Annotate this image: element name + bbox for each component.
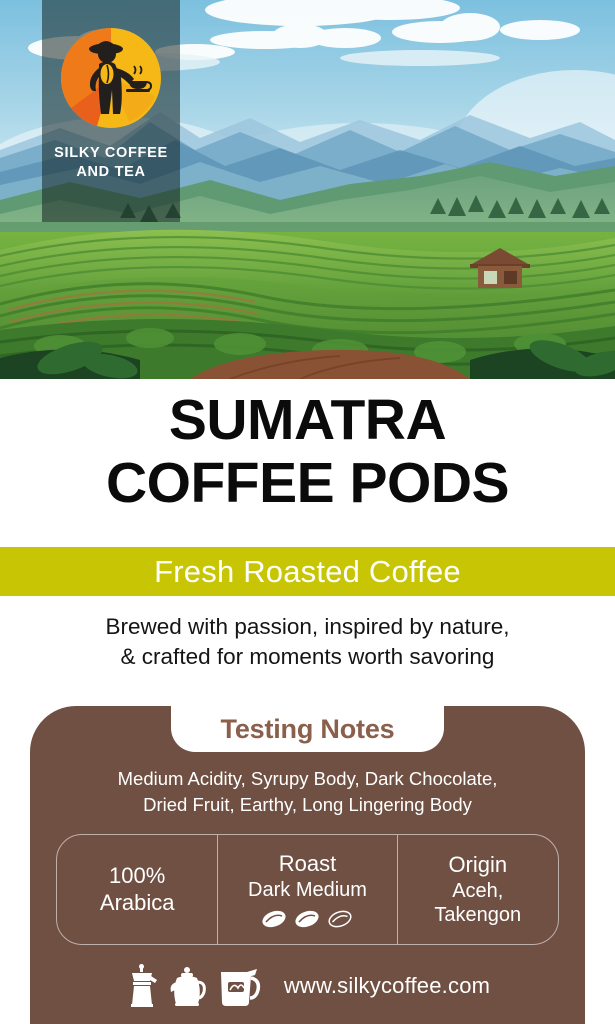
attribute-arabica: 100% Arabica (57, 835, 217, 944)
origin-line-1: Aceh, (452, 879, 503, 903)
brand-name-line1: SILKY COFFEE (54, 144, 168, 163)
title-line-1: SUMATRA (0, 392, 615, 448)
tagline-line-2: & crafted for moments worth savoring (0, 642, 615, 672)
coffee-bean-filled-icon (294, 910, 320, 928)
arabica-percent: 100% (109, 863, 165, 890)
brand-name: SILKY COFFEE AND TEA (54, 144, 168, 182)
fresh-roasted-band: Fresh Roasted Coffee (0, 547, 615, 596)
attribute-roast: Roast Dark Medium (217, 835, 397, 944)
tagline-line-1: Brewed with passion, inspired by nature, (0, 612, 615, 642)
coffee-bean-outline-icon (327, 910, 353, 928)
panel-footer: www.silkycoffee.com (30, 958, 585, 1014)
roast-label: Roast (279, 851, 336, 878)
attribute-origin: Origin Aceh, Takengon (398, 835, 558, 944)
tagline: Brewed with passion, inspired by nature,… (0, 612, 615, 671)
testing-notes-panel: Testing Notes Medium Acidity, Syrupy Bod… (30, 706, 585, 1024)
moka-pot-icon (125, 964, 159, 1008)
tasting-notes-line-2: Dried Fruit, Earthy, Long Lingering Body (52, 792, 563, 818)
band-label: Fresh Roasted Coffee (154, 554, 461, 590)
brand-name-line2: AND TEA (54, 163, 168, 182)
barista-silhouette-with-coffee-cup-icon (59, 26, 163, 130)
tasting-notes-line-1: Medium Acidity, Syrupy Body, Dark Chocol… (52, 766, 563, 792)
origin-line-2: Takengon (434, 903, 521, 927)
coffee-bean-filled-icon (261, 910, 287, 928)
roast-level-beans (261, 910, 353, 928)
brand-logo-panel: SILKY COFFEE AND TEA (42, 0, 180, 222)
origin-label: Origin (448, 852, 507, 879)
arabica-label: Arabica (100, 890, 175, 917)
roast-value: Dark Medium (248, 878, 367, 902)
title-line-2: COFFEE PODS (0, 455, 615, 511)
tasting-notes-text: Medium Acidity, Syrupy Body, Dark Chocol… (30, 766, 585, 819)
brewing-vessel-icons (125, 964, 261, 1008)
product-label: SILKY COFFEE AND TEA SUMATRA COFFEE PODS… (0, 0, 615, 1024)
milk-pitcher-icon (217, 966, 261, 1008)
testing-notes-heading: Testing Notes (171, 706, 444, 752)
product-attributes-box: 100% Arabica Roast Dark Medium (56, 834, 559, 945)
page-title: SUMATRA COFFEE PODS (0, 392, 615, 512)
website-url: www.silkycoffee.com (284, 973, 490, 999)
teapot-icon (168, 964, 208, 1008)
